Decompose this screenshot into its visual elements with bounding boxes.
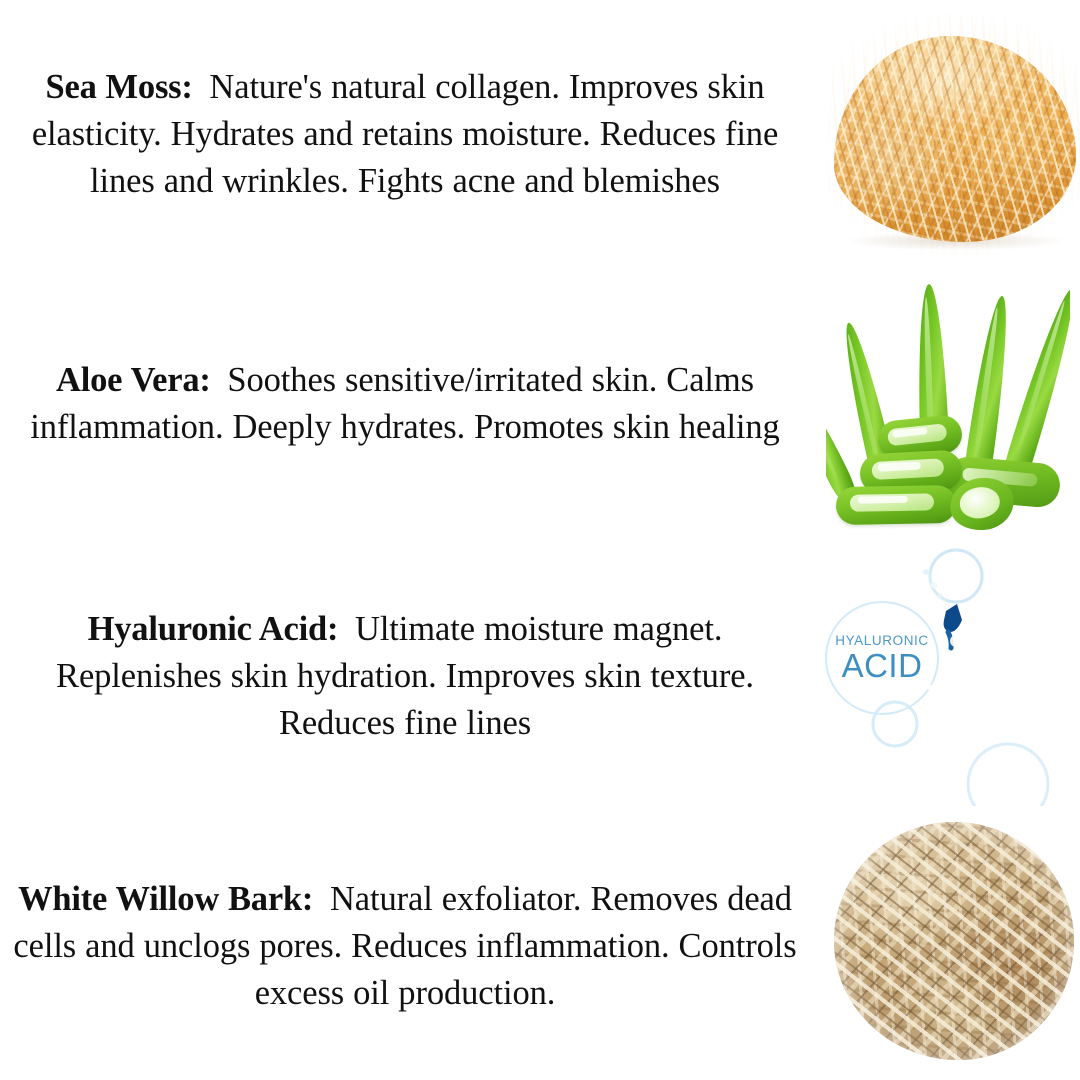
white-willow-bark-paragraph: White Willow Bark: Natural exfoliator. R…	[4, 876, 806, 1017]
sea-moss-text-block: Sea Moss: Nature's natural collagen. Imp…	[0, 64, 812, 205]
sea-moss-image-column	[812, 0, 1080, 268]
hyaluronic-acid-label: Hyaluronic Acid:	[88, 610, 339, 648]
label-space	[211, 361, 228, 399]
sea-moss-label: Sea Moss:	[45, 68, 192, 106]
hyaluronic-acid-text-block: Hyaluronic Acid: Ultimate moisture magne…	[0, 606, 812, 747]
hyaluronic-acid-image-column: 0%" stop-color="#9fd4f2"/> 38%" stop-col…	[812, 540, 1080, 812]
aloe-vera-text-block: Aloe Vera: Soothes sensitive/irritated s…	[0, 357, 812, 451]
aloe-vera-paragraph: Aloe Vera: Soothes sensitive/irritated s…	[4, 357, 806, 451]
ingredient-row-hyaluronic-acid: Hyaluronic Acid: Ultimate moisture magne…	[0, 540, 1080, 812]
sea-moss-loose-wisps	[828, 12, 1080, 256]
white-willow-bark-image-column	[812, 812, 1080, 1080]
label-space	[313, 880, 330, 918]
aloe-vera-image-column	[812, 268, 1080, 540]
bark-rough-outline	[826, 818, 1066, 1056]
label-space	[193, 68, 210, 106]
sea-moss-photo	[828, 4, 1080, 256]
soft-bubble	[992, 728, 1052, 788]
hyaluronic-overlay-line2: ACID	[842, 647, 923, 684]
hyaluronic-acid-svg: 0%" stop-color="#9fd4f2"/> 38%" stop-col…	[822, 544, 1074, 806]
white-willow-bark-text-block: White Willow Bark: Natural exfoliator. R…	[0, 876, 812, 1017]
hyaluronic-acid-paragraph: Hyaluronic Acid: Ultimate moisture magne…	[4, 606, 806, 747]
sea-moss-paragraph: Sea Moss: Nature's natural collagen. Imp…	[4, 64, 806, 205]
aloe-vera-photo	[826, 274, 1070, 532]
ingredient-row-aloe-vera: Aloe Vera: Soothes sensitive/irritated s…	[0, 268, 1080, 540]
white-willow-bark-label: White Willow Bark:	[18, 880, 313, 918]
label-space	[338, 610, 355, 648]
ingredient-row-sea-moss: Sea Moss: Nature's natural collagen. Imp…	[0, 0, 1080, 268]
ingredient-row-white-willow-bark: White Willow Bark: Natural exfoliator. R…	[0, 812, 1080, 1080]
infographic-page: Sea Moss: Nature's natural collagen. Imp…	[0, 0, 1080, 1080]
hyaluronic-acid-illustration: 0%" stop-color="#9fd4f2"/> 38%" stop-col…	[822, 544, 1074, 806]
hyaluronic-overlay-line1: HYALURONIC	[835, 633, 929, 648]
aloe-slice	[836, 485, 957, 525]
aloe-vera-label: Aloe Vera:	[56, 361, 211, 399]
white-willow-bark-photo	[826, 818, 1080, 1068]
